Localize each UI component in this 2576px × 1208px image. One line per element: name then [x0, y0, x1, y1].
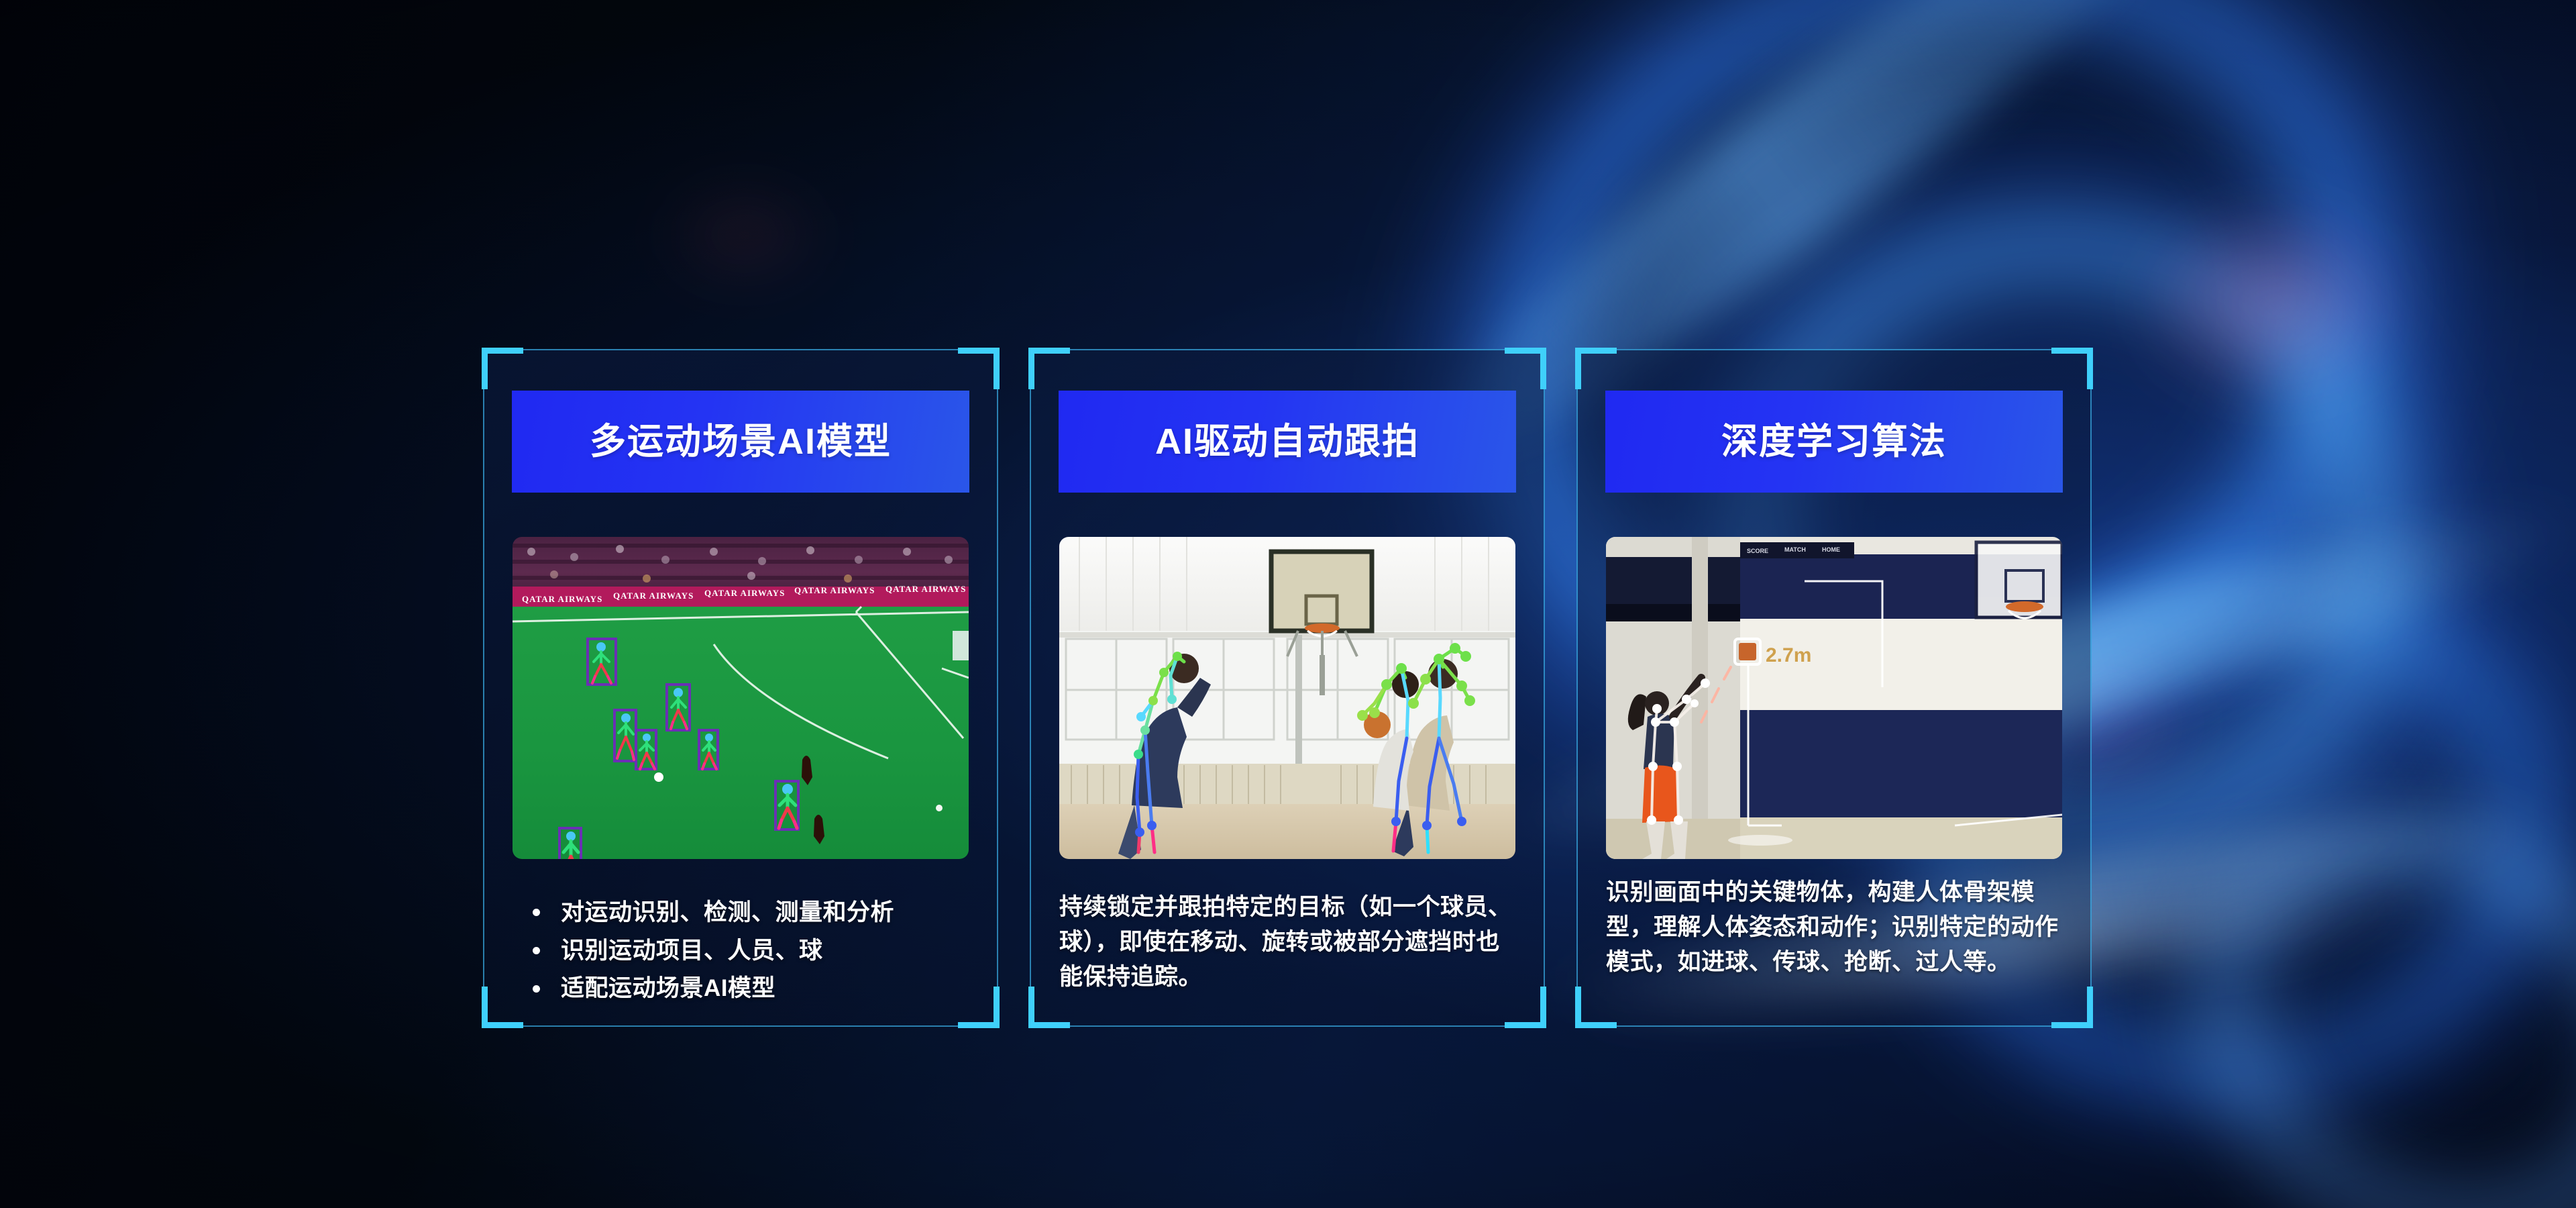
shot-height-measurement-thumbnail[interactable]: SCOREMATCHHOME [1606, 537, 2062, 859]
backboard-icon [1976, 542, 2062, 618]
svg-text:MATCH: MATCH [1784, 546, 1806, 553]
corner-accent-top-left [1028, 348, 1070, 389]
card-body: 识别画面中的关键物体，构建人体骨架模型，理解人体姿态和动作；识别特定的动作模式，… [1606, 875, 2070, 979]
corner-accent-top-right [2051, 348, 2093, 389]
measurement-label: 2.7m [1766, 644, 1811, 666]
shot-measurement-illustration: SCOREMATCHHOME [1606, 537, 2062, 859]
soccer-pose-detection-thumbnail[interactable]: QATAR AIRWAYSQATAR AIRWAYS QATAR AIRWAYS… [513, 537, 969, 859]
svg-text:QATAR AIRWAYS: QATAR AIRWAYS [794, 585, 875, 595]
card-title-banner: 多运动场景AI模型 [512, 391, 969, 493]
feature-card-deep-learning-algorithm[interactable]: 深度学习算法 SCOREMATCHHOME [1576, 349, 2092, 1027]
basketball-gym-illustration [1059, 537, 1515, 859]
corner-accent-top-right [958, 348, 1000, 389]
corner-accent-top-right [1505, 348, 1546, 389]
svg-text:QATAR AIRWAYS: QATAR AIRWAYS [885, 584, 966, 594]
card-body: 持续锁定并跟拍特定的目标（如一个球员、球），即使在移动、旋转或被部分遮挡时也能保… [1059, 890, 1523, 994]
slide-canvas: 多运动场景AI模型 [0, 0, 2576, 1208]
card-title-banner: AI驱动自动跟拍 [1059, 391, 1516, 493]
svg-text:QATAR AIRWAYS: QATAR AIRWAYS [522, 594, 602, 604]
corner-accent-top-left [482, 348, 523, 389]
card-description: 持续锁定并跟拍特定的目标（如一个球员、球），即使在移动、旋转或被部分遮挡时也能保… [1059, 890, 1523, 994]
feature-card-row: 多运动场景AI模型 [483, 349, 2093, 1034]
svg-text:QATAR AIRWAYS: QATAR AIRWAYS [613, 591, 694, 601]
card-description: 识别画面中的关键物体，构建人体骨架模型，理解人体姿态和动作；识别特定的动作模式，… [1606, 875, 2070, 979]
card-title: AI驱动自动跟拍 [1155, 423, 1419, 460]
corner-accent-bottom-left [1575, 987, 1617, 1028]
svg-text:SCORE: SCORE [1747, 548, 1768, 554]
card-title-banner: 深度学习算法 [1605, 391, 2063, 493]
list-item: 适配运动场景AI模型 [513, 970, 977, 1008]
feature-bullet-list: 对运动识别、检测、测量和分析 识别运动项目、人员、球 适配运动场景AI模型 [513, 894, 977, 1008]
soccer-scene-illustration: QATAR AIRWAYSQATAR AIRWAYS QATAR AIRWAYS… [513, 537, 969, 859]
feature-card-ai-auto-tracking[interactable]: AI驱动自动跟拍 [1030, 349, 1545, 1027]
corner-accent-top-left [1575, 348, 1617, 389]
basketball-skeleton-tracking-thumbnail[interactable] [1059, 537, 1515, 859]
card-title: 深度学习算法 [1721, 423, 1947, 460]
list-item: 对运动识别、检测、测量和分析 [513, 894, 977, 932]
corner-accent-bottom-right [2051, 987, 2093, 1028]
feature-card-multi-sport-ai-model[interactable]: 多运动场景AI模型 [483, 349, 998, 1027]
card-title: 多运动场景AI模型 [590, 423, 892, 460]
svg-text:QATAR AIRWAYS: QATAR AIRWAYS [704, 588, 785, 598]
list-item: 识别运动项目、人员、球 [513, 932, 977, 970]
card-body: 对运动识别、检测、测量和分析 识别运动项目、人员、球 适配运动场景AI模型 [513, 894, 977, 1008]
svg-text:HOME: HOME [1822, 546, 1840, 553]
